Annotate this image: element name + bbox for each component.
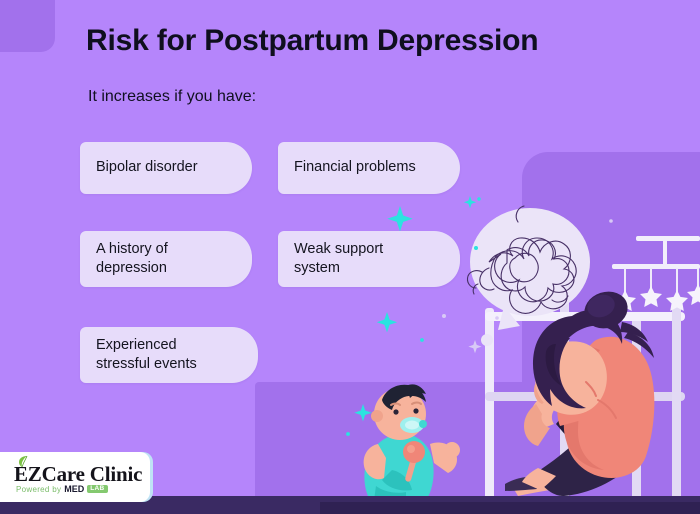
risk-card-history-of-depression[interactable]: A history of depression	[80, 231, 252, 287]
risk-card-experienced-stressful-events[interactable]: Experienced stressful events	[80, 327, 258, 383]
decor-panel-bottom	[255, 382, 535, 514]
risk-card-label: A history of depression	[96, 240, 168, 279]
risk-card-label: Financial problems	[294, 158, 416, 177]
infographic-canvas: Risk for Postpartum Depression It increa…	[0, 0, 700, 514]
risk-card-weak-support-system[interactable]: Weak support system	[278, 231, 460, 287]
logo-partner-badge: LAB	[87, 485, 107, 494]
risk-card-financial-problems[interactable]: Financial problems	[278, 142, 460, 194]
logo-tagline: Powered by MED LAB	[16, 484, 108, 494]
risk-card-label: Experienced stressful events	[96, 336, 197, 375]
logo-powered-by-text: Powered by	[16, 485, 61, 494]
page-subtitle: It increases if you have:	[88, 88, 256, 106]
logo-partner-name: MED	[64, 484, 84, 494]
decor-panel-top-left	[0, 0, 55, 52]
risk-card-label: Weak support system	[294, 240, 383, 279]
floor-strip-front	[320, 502, 700, 514]
page-title: Risk for Postpartum Depression	[86, 24, 666, 57]
risk-card-label: Bipolar disorder	[96, 158, 198, 177]
risk-card-bipolar-disorder[interactable]: Bipolar disorder	[80, 142, 252, 194]
decor-panel-wall-right	[522, 152, 700, 514]
